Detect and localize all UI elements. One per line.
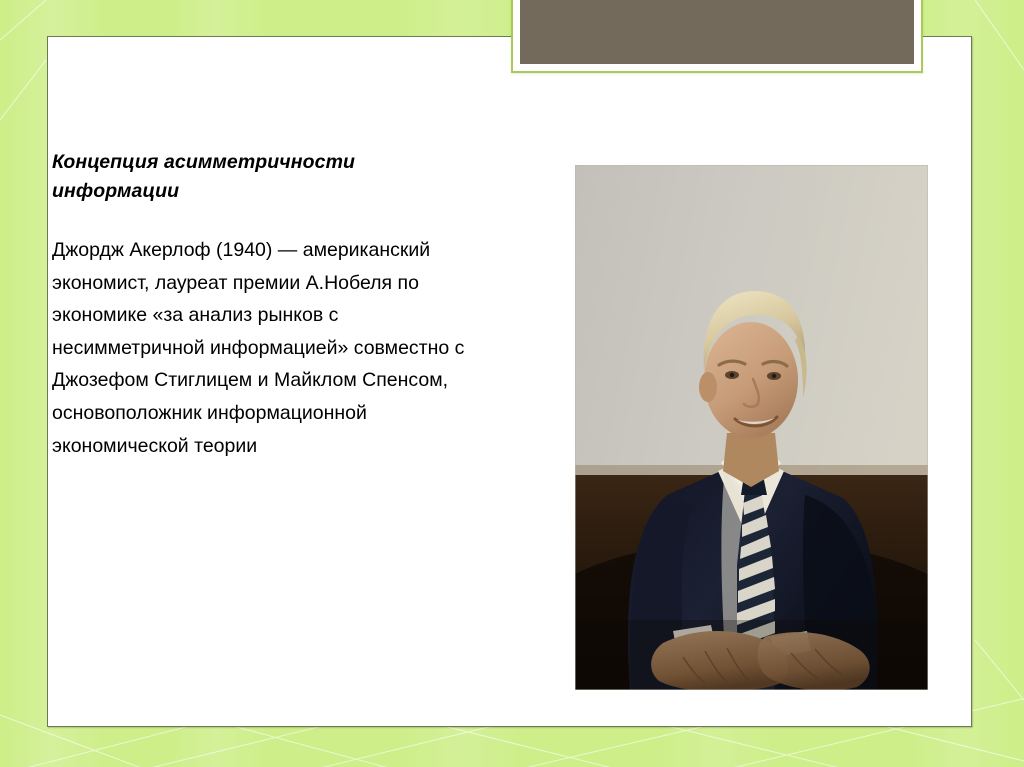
slide-body-text: Джордж Акерлоф (1940) — американский эко… bbox=[52, 234, 472, 462]
decorative-banner bbox=[511, 0, 923, 73]
portrait-illustration bbox=[575, 165, 928, 690]
text-block: Концепция асимметричности информации Джо… bbox=[52, 148, 472, 462]
slide-heading: Концепция асимметричности информации bbox=[52, 148, 472, 205]
slide-root: Концепция асимметричности информации Джо… bbox=[0, 0, 1024, 767]
portrait-photo bbox=[575, 165, 928, 690]
banner-fill bbox=[520, 0, 914, 64]
